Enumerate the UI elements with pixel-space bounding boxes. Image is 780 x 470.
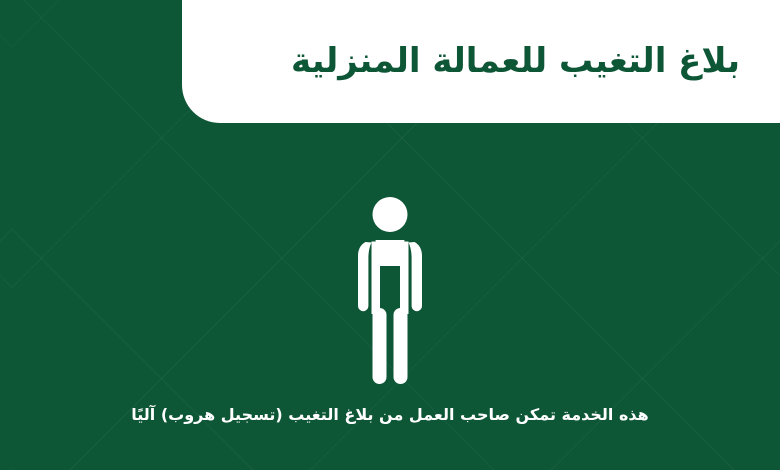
service-description: هذه الخدمة تمكن صاحب العمل من بلاغ التغي… [0,404,780,426]
service-card: بلاغ التغيب للعمالة المنزلية هذه الخدمة … [0,0,780,470]
header-panel: بلاغ التغيب للعمالة المنزلية [182,0,780,123]
domestic-worker-apron-icon [357,196,423,384]
illustration-container [0,196,780,384]
page-title: بلاغ التغيب للعمالة المنزلية [182,42,780,81]
